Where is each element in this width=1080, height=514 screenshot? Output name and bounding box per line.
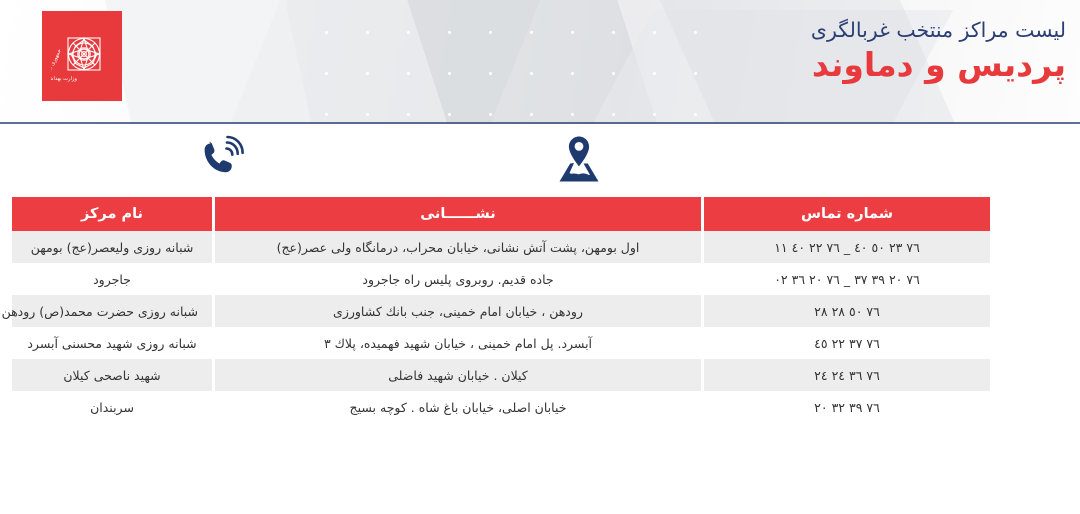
- svg-text:وزارت بهداشت درمان: وزارت بهداشت درمان: [51, 76, 77, 82]
- cell-address: رودهن ، خیابان امام خمینی، جنب بانك کشاو…: [212, 295, 701, 327]
- page-title: پردیس و دماوند: [811, 48, 1066, 81]
- cell-address: کیلان . خیابان شهید فاضلی: [212, 359, 701, 391]
- background-polygon: [94, 0, 325, 124]
- rosette-emblem-icon: جمهوری اسلامی ایران وزارت بهداشت درمان: [51, 24, 113, 88]
- cell-name: شبانه روزی شهید محسنی آبسرد: [12, 327, 212, 359]
- cell-name: شبانه روزی حضرت محمد(ص) رودهن: [12, 295, 212, 327]
- centers-table-wrapper: شماره تماس نشــــــانی نام مرکز ٧٦ ٢٣ ٥٠…: [90, 197, 990, 423]
- cell-phone: ٧٦ ٣٧ ٢٢ ٤٥: [701, 327, 990, 359]
- cell-phone: ٧٦ ٢٣ ٥٠ ٤٠ _ ٧٦ ٢٢ ٤٠ ١١: [701, 231, 990, 263]
- svg-text:جمهوری اسلامی ایران: جمهوری اسلامی ایران: [51, 48, 63, 88]
- column-icon-strip: [0, 124, 1080, 197]
- map-location-pin-icon: [551, 134, 607, 186]
- cell-name: شبانه روزی ولیعصر(عج) بومهن: [12, 231, 212, 263]
- table-row: ٧٦ ٣٧ ٢٢ ٤٥ آبسرد. پل امام خمینی ، خیابا…: [12, 327, 990, 359]
- organization-logo: جمهوری اسلامی ایران وزارت بهداشت درمان: [42, 11, 122, 101]
- cell-phone: ٧٦ ٣٩ ٣٢ ٢٠: [701, 391, 990, 423]
- table-row: ٧٦ ٣٦ ٢٤ ٢٤ کیلان . خیابان شهید فاضلی شه…: [12, 359, 990, 391]
- background-polygon: [388, 0, 682, 124]
- table-row: ٧٦ ٥٠ ٢٨ ٢٨ رودهن ، خیابان امام خمینی، ج…: [12, 295, 990, 327]
- table-row: ٧٦ ٣٩ ٣٢ ٢٠ خیابان اصلی، خیابان باغ شاه …: [12, 391, 990, 423]
- cell-name: جاجرود: [12, 263, 212, 295]
- column-header-phone: شماره تماس: [701, 197, 990, 231]
- background-polygon: [204, 0, 557, 124]
- column-header-name: نام مرکز: [12, 197, 212, 231]
- cell-address: خیابان اصلی، خیابان باغ شاه . کوچه بسیج: [212, 391, 701, 423]
- page-header: جمهوری اسلامی ایران وزارت بهداشت درمان ل…: [0, 0, 1080, 124]
- header-titles: لیست مراکز منتخب غربالگری پردیس و دماوند: [811, 20, 1066, 81]
- cell-address: جاده قدیم. روبروی پلیس راه جاجرود: [212, 263, 701, 295]
- table-head: شماره تماس نشــــــانی نام مرکز: [12, 197, 990, 231]
- table-header-row: شماره تماس نشــــــانی نام مرکز: [12, 197, 990, 231]
- cell-address: آبسرد. پل امام خمینی ، خیابان شهید فهمید…: [212, 327, 701, 359]
- cell-phone: ٧٦ ٥٠ ٢٨ ٢٨: [701, 295, 990, 327]
- phone-call-icon: [196, 134, 248, 186]
- cell-name: شهید ناصحی کیلان: [12, 359, 212, 391]
- cell-name: سربندان: [12, 391, 212, 423]
- table-row: ٧٦ ٢٣ ٥٠ ٤٠ _ ٧٦ ٢٢ ٤٠ ١١ اول بومهن، پشت…: [12, 231, 990, 263]
- cell-phone: ٧٦ ٢٠ ٣٩ ٣٧ _ ٧٦ ٢٠ ٣٦ ٠٢: [701, 263, 990, 295]
- page-subtitle: لیست مراکز منتخب غربالگری: [811, 20, 1066, 41]
- table-body: ٧٦ ٢٣ ٥٠ ٤٠ _ ٧٦ ٢٢ ٤٠ ١١ اول بومهن، پشت…: [12, 231, 990, 423]
- cell-address: اول بومهن، پشت آتش نشانی، خیابان محراب، …: [212, 231, 701, 263]
- cell-phone: ٧٦ ٣٦ ٢٤ ٢٤: [701, 359, 990, 391]
- table-row: ٧٦ ٢٠ ٣٩ ٣٧ _ ٧٦ ٢٠ ٣٦ ٠٢ جاده قدیم. روب…: [12, 263, 990, 295]
- column-header-address: نشــــــانی: [212, 197, 701, 231]
- background-dot-grid: [300, 0, 720, 124]
- centers-table: شماره تماس نشــــــانی نام مرکز ٧٦ ٢٣ ٥٠…: [12, 197, 990, 423]
